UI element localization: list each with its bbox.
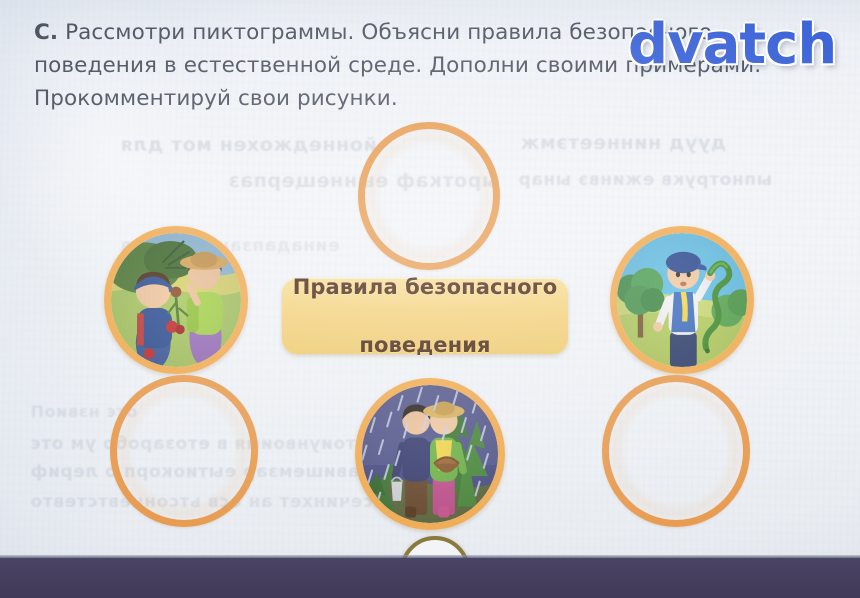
paper-vignette [0, 0, 860, 598]
desk-band [0, 558, 860, 598]
textbook-page-scan: йоннеджохен мот для ыроткаф еыннещерпаз … [0, 0, 860, 598]
